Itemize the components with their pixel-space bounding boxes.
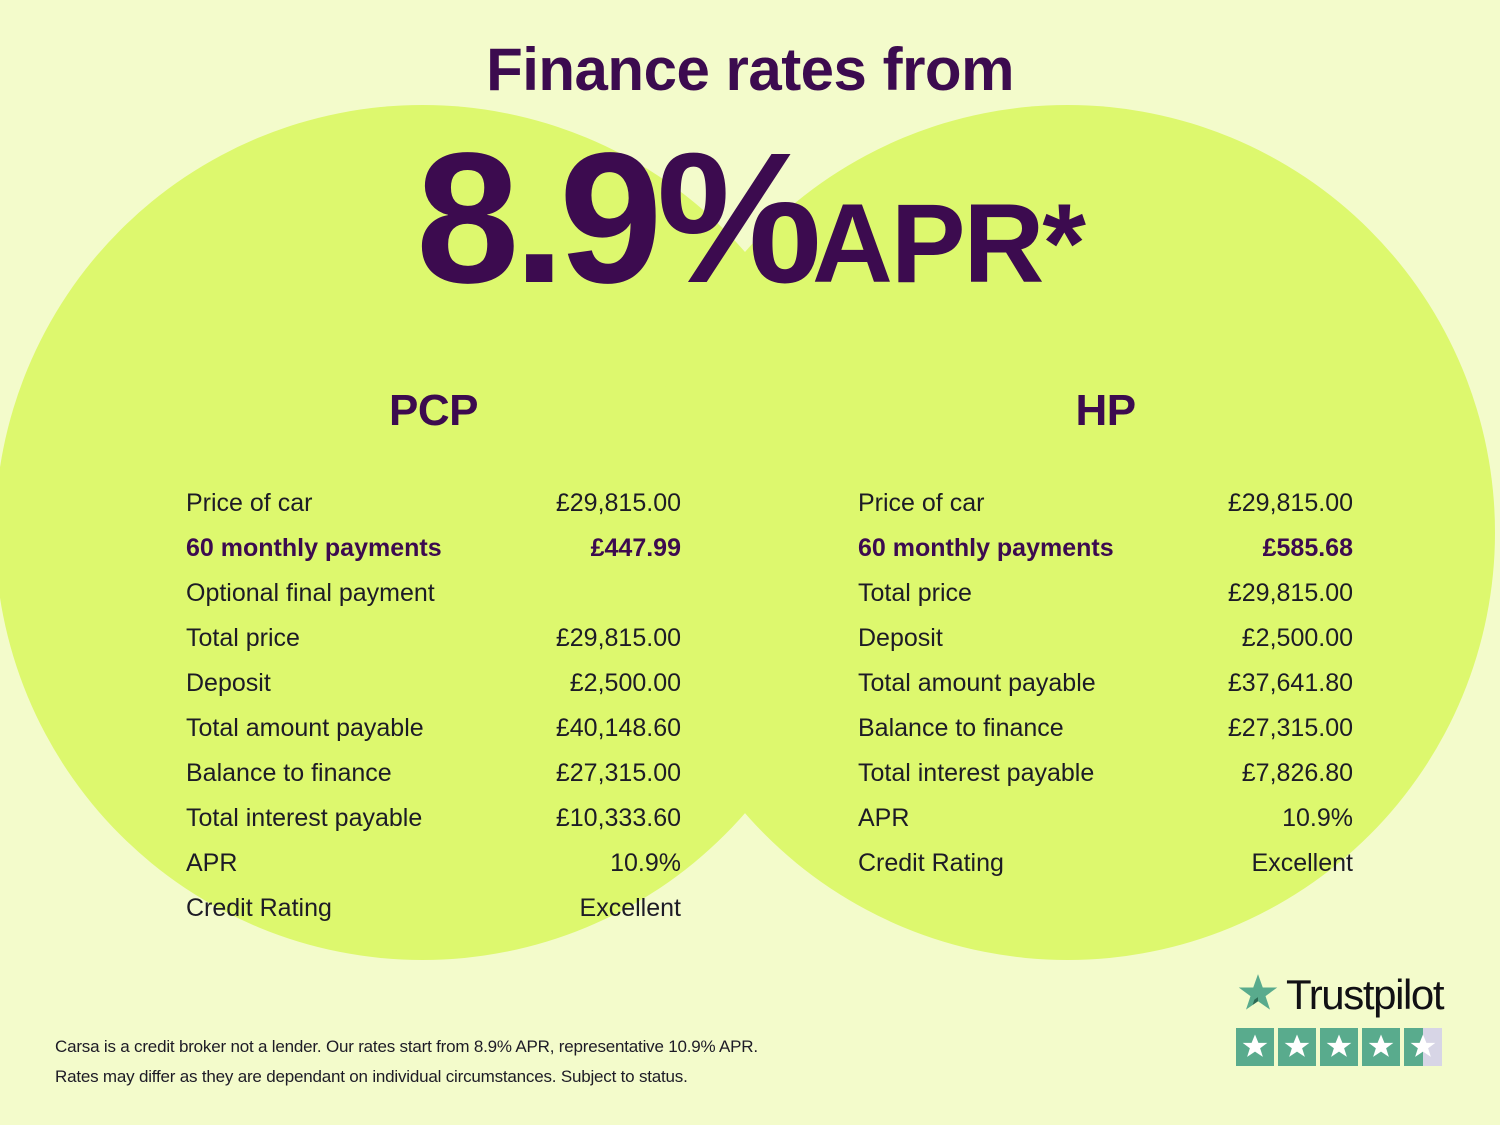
apr-label: APR* <box>812 181 1084 306</box>
row-label: Balance to finance <box>186 751 518 796</box>
row-label: 60 monthly payments <box>858 526 1190 571</box>
table-row: Balance to finance£27,315.00 <box>186 751 681 796</box>
table-row: Total interest payable£10,333.60 <box>186 796 681 841</box>
plan-title-hp: HP <box>858 389 1353 433</box>
row-label: Balance to finance <box>858 706 1190 751</box>
table-row: Credit RatingExcellent <box>858 841 1353 886</box>
row-label: APR <box>186 841 518 886</box>
row-value: £27,315.00 <box>518 751 681 796</box>
row-label: Total amount payable <box>186 706 518 751</box>
row-label: APR <box>858 796 1190 841</box>
table-row: Price of car£29,815.00 <box>858 481 1353 526</box>
finance-plan-hp: HP Price of car£29,815.0060 monthly paym… <box>858 389 1353 886</box>
disclaimer-line-2: Rates may differ as they are dependant o… <box>55 1062 855 1092</box>
row-label: Deposit <box>186 661 518 706</box>
trustpilot-star-icon <box>1404 1028 1442 1066</box>
trustpilot-logo: Trustpilot <box>1236 972 1454 1018</box>
trustpilot-widget[interactable]: Trustpilot <box>1236 972 1454 1066</box>
row-value: £2,500.00 <box>518 661 681 706</box>
row-value: £27,315.00 <box>1190 706 1353 751</box>
row-label: Price of car <box>186 481 518 526</box>
table-row: Deposit£2,500.00 <box>186 661 681 706</box>
trustpilot-star-icon <box>1362 1028 1400 1066</box>
row-label: Total price <box>858 571 1190 616</box>
row-value <box>518 571 681 616</box>
page-headline: Finance rates from <box>0 38 1500 101</box>
trustpilot-star-icon <box>1320 1028 1358 1066</box>
table-row: Total interest payable£7,826.80 <box>858 751 1353 796</box>
row-value: £29,815.00 <box>1190 481 1353 526</box>
disclaimer-line-1: Carsa is a credit broker not a lender. O… <box>55 1032 855 1062</box>
disclaimer-text: Carsa is a credit broker not a lender. O… <box>55 1032 855 1092</box>
table-row: 60 monthly payments£447.99 <box>186 526 681 571</box>
row-label: Total amount payable <box>858 661 1190 706</box>
apr-rate-block: 8.9%APR* <box>0 126 1500 312</box>
table-row: APR10.9% <box>858 796 1353 841</box>
row-label: Price of car <box>858 481 1190 526</box>
table-row: Optional final payment <box>186 571 681 616</box>
row-label: Total price <box>186 616 518 661</box>
table-row: Price of car£29,815.00 <box>186 481 681 526</box>
table-row: Total price£29,815.00 <box>186 616 681 661</box>
row-value: 10.9% <box>1190 796 1353 841</box>
row-value: £29,815.00 <box>1190 571 1353 616</box>
row-value: £29,815.00 <box>518 616 681 661</box>
row-label: Credit Rating <box>186 886 518 931</box>
row-value: £40,148.60 <box>518 706 681 751</box>
table-row: Total price£29,815.00 <box>858 571 1353 616</box>
table-row: APR10.9% <box>186 841 681 886</box>
row-value: £37,641.80 <box>1190 661 1353 706</box>
table-row: 60 monthly payments£585.68 <box>858 526 1353 571</box>
apr-rate-value: 8.9% <box>416 115 816 322</box>
finance-table-pcp: Price of car£29,815.0060 monthly payment… <box>186 481 681 931</box>
trustpilot-wordmark-text: Trustpilot <box>1286 974 1443 1016</box>
trustpilot-star-icon <box>1236 1028 1274 1066</box>
trustpilot-star-icon <box>1278 1028 1316 1066</box>
finance-table-hp: Price of car£29,815.0060 monthly payment… <box>858 481 1353 886</box>
row-label: Total interest payable <box>858 751 1190 796</box>
row-value: Excellent <box>518 886 681 931</box>
trustpilot-star-icon <box>1236 972 1280 1019</box>
row-value: Excellent <box>1190 841 1353 886</box>
finance-plan-pcp: PCP Price of car£29,815.0060 monthly pay… <box>186 389 681 931</box>
row-label: 60 monthly payments <box>186 526 518 571</box>
row-value: £29,815.00 <box>518 481 681 526</box>
table-row: Total amount payable£40,148.60 <box>186 706 681 751</box>
row-value: £2,500.00 <box>1190 616 1353 661</box>
table-row: Balance to finance£27,315.00 <box>858 706 1353 751</box>
row-value: £585.68 <box>1190 526 1353 571</box>
trustpilot-star-rating <box>1236 1028 1454 1066</box>
row-label: Credit Rating <box>858 841 1190 886</box>
row-value: £10,333.60 <box>518 796 681 841</box>
plan-title-pcp: PCP <box>186 389 681 433</box>
row-value: £447.99 <box>518 526 681 571</box>
row-label: Total interest payable <box>186 796 518 841</box>
row-label: Deposit <box>858 616 1190 661</box>
row-value: £7,826.80 <box>1190 751 1353 796</box>
row-label: Optional final payment <box>186 571 518 616</box>
row-value: 10.9% <box>518 841 681 886</box>
table-row: Credit RatingExcellent <box>186 886 681 931</box>
table-row: Total amount payable£37,641.80 <box>858 661 1353 706</box>
table-row: Deposit£2,500.00 <box>858 616 1353 661</box>
